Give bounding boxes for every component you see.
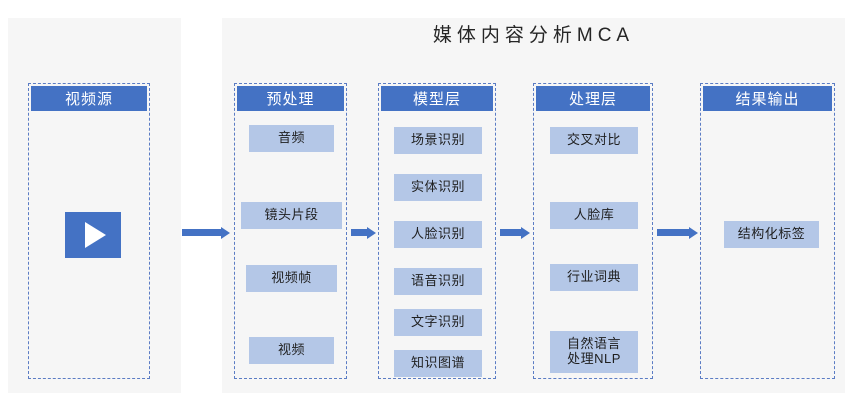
stage-process-layer: 处理层 交叉对比 人脸库 行业词典 自然语言 处理NLP [533,83,653,379]
stage-header-preprocess: 预处理 [237,86,344,111]
stage-header-video-source: 视频源 [31,86,147,111]
arrow-head [221,227,230,239]
arrow-head [521,227,530,239]
arrow-shaft [182,229,221,236]
chip-model-entity-recognition[interactable]: 实体识别 [394,174,482,201]
chip-process-industry-lexicon[interactable]: 行业词典 [550,264,638,291]
chip-preprocess-video[interactable]: 视频 [249,337,334,364]
play-icon[interactable] [65,212,121,258]
stage-preprocess: 预处理 音频 镜头片段 视频帧 视频 [234,83,347,379]
chip-output-structured-tags[interactable]: 结构化标签 [724,221,819,248]
arrow-head [689,227,698,239]
arrow-shaft [500,229,521,236]
stage-header-process-layer: 处理层 [536,86,650,111]
chip-model-speech-recognition[interactable]: 语音识别 [394,268,482,295]
chip-model-knowledge-graph[interactable]: 知识图谱 [394,350,482,377]
arrow-shaft [351,229,367,236]
stage-model-layer: 模型层 场景识别 实体识别 人脸识别 语音识别 文字识别 知识图谱 [378,83,496,379]
chip-process-nlp[interactable]: 自然语言 处理NLP [550,331,638,373]
chip-model-face-recognition[interactable]: 人脸识别 [394,221,482,248]
diagram-title: 媒体内容分析MCA [222,20,845,47]
chip-model-text-recognition[interactable]: 文字识别 [394,309,482,336]
arrow-preprocess-to-model [351,227,376,238]
arrow-process-to-output [657,227,698,238]
chip-preprocess-audio[interactable]: 音频 [249,125,334,152]
chip-process-cross-compare[interactable]: 交叉对比 [550,127,638,154]
chip-model-scene-recognition[interactable]: 场景识别 [394,127,482,154]
arrow-model-to-process [500,227,530,238]
stage-header-result-output: 结果输出 [703,86,832,111]
arrow-head [367,227,376,239]
play-triangle [85,222,106,248]
arrow-source-to-preprocess [182,227,230,238]
chip-preprocess-shot-clip[interactable]: 镜头片段 [241,202,342,229]
stage-result-output: 结果输出 结构化标签 [700,83,835,379]
chip-process-face-library[interactable]: 人脸库 [550,202,638,229]
arrow-shaft [657,229,689,236]
stage-header-model-layer: 模型层 [381,86,493,111]
chip-preprocess-video-frame[interactable]: 视频帧 [246,265,337,292]
